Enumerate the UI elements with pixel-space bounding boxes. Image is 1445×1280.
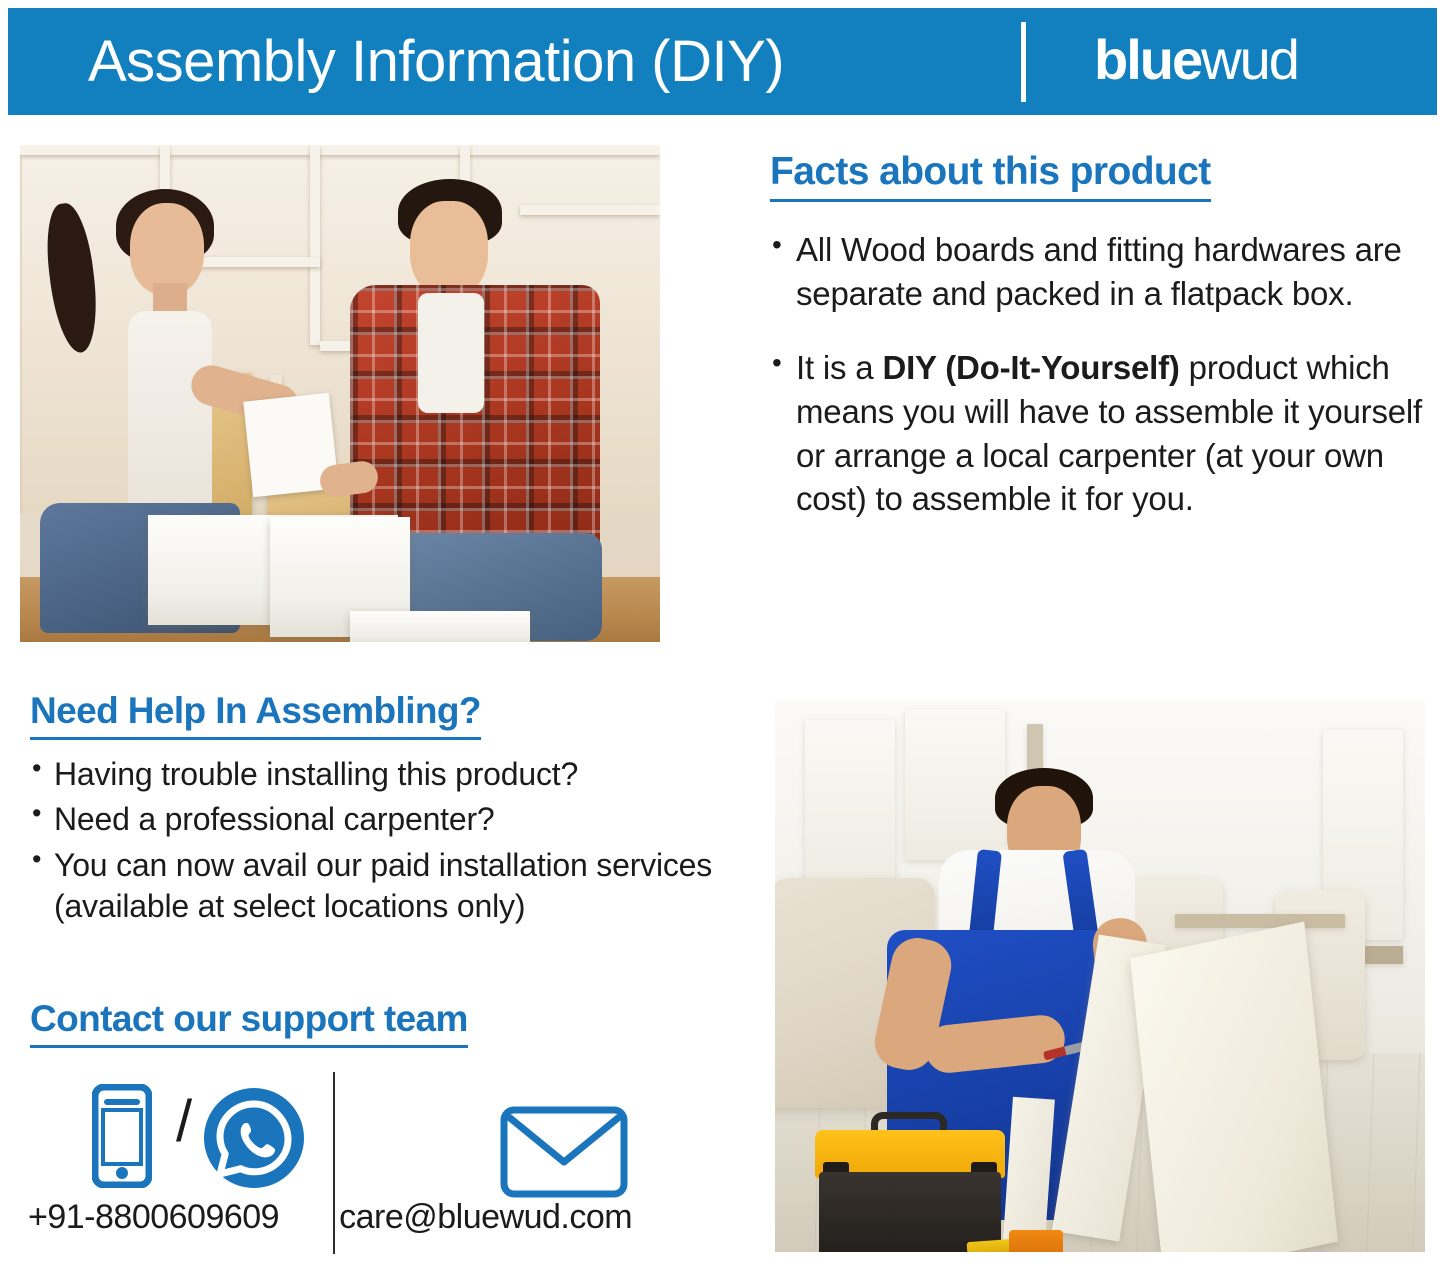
logo-text-light: wud xyxy=(1201,28,1298,91)
table-edge xyxy=(1175,914,1345,928)
contact-icon-row: / xyxy=(30,1084,760,1192)
shelf-board xyxy=(20,145,660,155)
assembly-information-page: Assembly Information (DIY) bluewud xyxy=(0,0,1445,1280)
facts-bullet-text: All Wood boards and fitting hardwares ar… xyxy=(796,231,1402,312)
facts-bullet-text: It is a xyxy=(796,349,882,386)
wall-panel xyxy=(805,720,895,890)
facts-heading: Facts about this product xyxy=(770,150,1211,202)
need-help-item: Having trouble installing this product? xyxy=(30,754,760,795)
wall-panel xyxy=(905,710,1005,860)
need-help-item: You can now avail our paid installation … xyxy=(30,845,760,928)
facts-bullet-item: All Wood boards and fitting hardwares ar… xyxy=(770,228,1438,316)
shelf-board xyxy=(520,205,660,215)
banner-divider xyxy=(1021,22,1026,102)
contact-details-row: +91-8800609609 care@bluewud.com xyxy=(0,1198,740,1237)
toolbox-body xyxy=(819,1172,1001,1252)
shelf-board xyxy=(310,145,320,345)
page-title: Assembly Information (DIY) xyxy=(88,28,784,95)
woman-white-top xyxy=(128,311,212,531)
contact-section: Contact our support team / xyxy=(30,998,760,1192)
facts-bullet-list: All Wood boards and fitting hardwares ar… xyxy=(770,228,1438,521)
need-help-section: Need Help In Assembling? Having trouble … xyxy=(30,690,760,931)
couple-assembling-furniture-photo xyxy=(20,145,660,642)
facts-bullet-item: It is a DIY (Do-It-Yourself) product whi… xyxy=(770,346,1438,522)
furniture-board xyxy=(1130,921,1338,1252)
tape-measure xyxy=(1009,1230,1063,1252)
facts-bullet-bold: DIY (Do-It-Yourself) xyxy=(882,349,1179,386)
need-help-list: Having trouble installing this product? … xyxy=(30,754,760,927)
woman-face xyxy=(130,203,204,295)
bluewud-logo: bluewud xyxy=(1094,32,1298,88)
need-help-heading: Need Help In Assembling? xyxy=(30,690,481,740)
support-email-address[interactable]: care@bluewud.com xyxy=(339,1198,632,1237)
slash-separator: / xyxy=(176,1088,192,1155)
carpenter-assembling-furniture-photo xyxy=(775,700,1425,1252)
header-banner: Assembly Information (DIY) bluewud xyxy=(8,8,1437,115)
need-help-item: Need a professional carpenter? xyxy=(30,799,760,840)
whatsapp-icon[interactable] xyxy=(202,1086,306,1195)
contact-heading: Contact our support team xyxy=(30,998,468,1048)
logo-text-bold: blue xyxy=(1094,28,1201,91)
envelope-icon[interactable] xyxy=(500,1106,628,1203)
white-furniture-panel xyxy=(350,611,530,642)
mobile-phone-icon[interactable] xyxy=(92,1084,152,1193)
man-face xyxy=(410,201,488,297)
facts-section: Facts about this product All Wood boards… xyxy=(770,150,1438,551)
man-white-tshirt xyxy=(418,293,484,413)
support-phone-number[interactable]: +91-8800609609 xyxy=(28,1198,279,1237)
